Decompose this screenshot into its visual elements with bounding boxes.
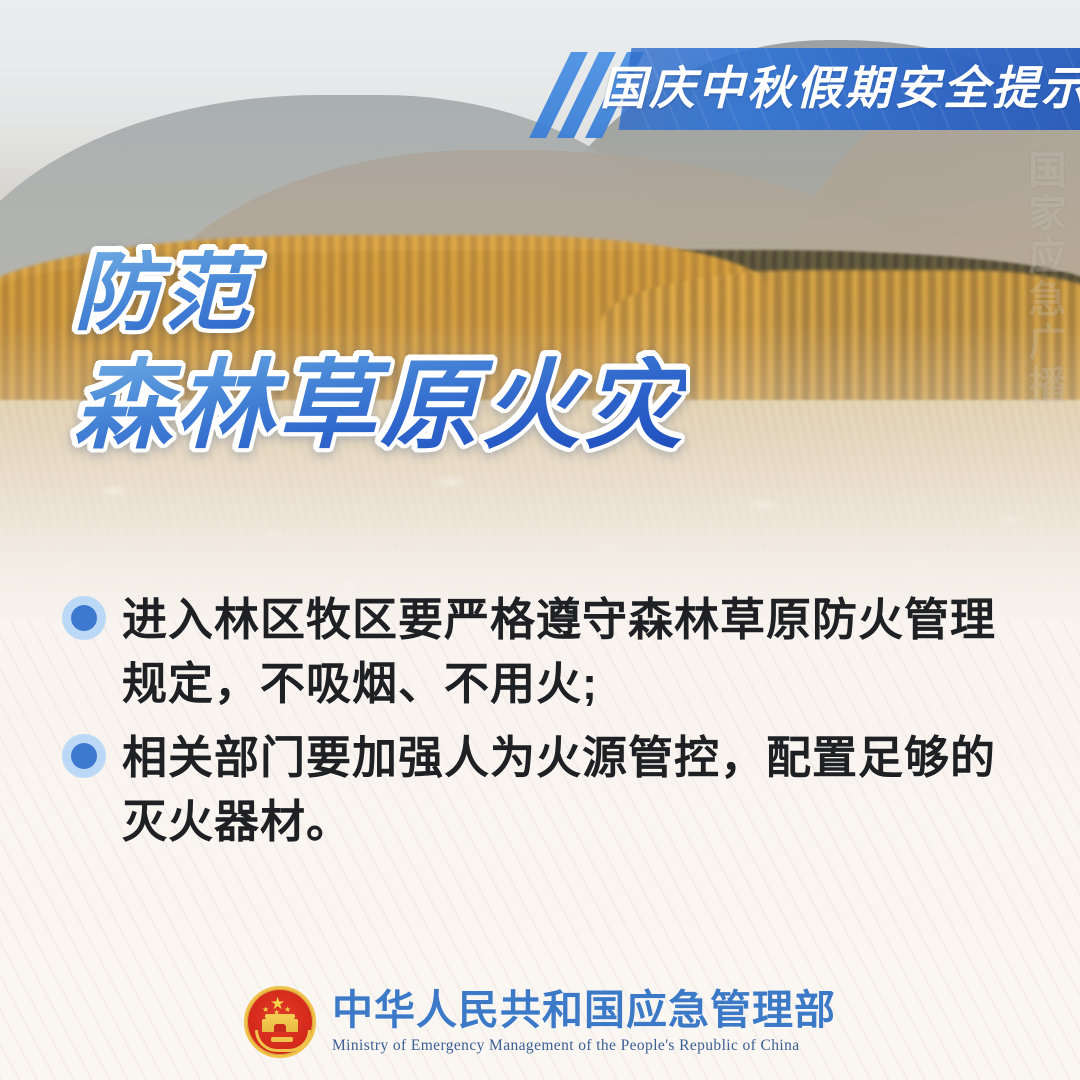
emblem-star-small-3: ★ bbox=[284, 1006, 291, 1014]
banner-title: 国庆中秋假期安全提示 bbox=[600, 52, 1080, 118]
safety-poster: 国家应急广播 国庆中秋假期安全提示 防范 森林草原火灾 进入林区牧区要严格遵守森… bbox=[0, 0, 1080, 1080]
headline: 防范 森林草原火灾 bbox=[74, 250, 686, 454]
headline-line-1: 防范 bbox=[74, 250, 686, 336]
list-item: 相关部门要加强人为火源管控，配置足够的灭火器材。 bbox=[62, 726, 1022, 854]
bullet-text: 进入林区牧区要严格遵守森林草原防火管理规定，不吸烟、不用火; bbox=[122, 588, 1010, 716]
watermark-text: 国家应急广播 bbox=[1024, 150, 1062, 408]
headline-line-2: 森林草原火灾 bbox=[74, 356, 686, 454]
footer-text-block: 中华人民共和国应急管理部 Ministry of Emergency Manag… bbox=[332, 989, 836, 1055]
organization-name-en: Ministry of Emergency Management of the … bbox=[332, 1037, 800, 1055]
organization-name-cn: 中华人民共和国应急管理部 bbox=[332, 989, 836, 1032]
bullet-text: 相关部门要加强人为火源管控，配置足够的灭火器材。 bbox=[122, 726, 1010, 854]
emblem-wheat-gear bbox=[255, 1030, 311, 1052]
bullet-dot-icon bbox=[62, 596, 106, 640]
bullet-list: 进入林区牧区要严格遵守森林草原防火管理规定，不吸烟、不用火; 相关部门要加强人为… bbox=[62, 588, 1022, 864]
list-item: 进入林区牧区要严格遵守森林草原防火管理规定，不吸烟、不用火; bbox=[62, 588, 1022, 716]
emblem-star-small-1: ★ bbox=[262, 1006, 269, 1014]
footer: ★ ★ ★ ★ 中华人民共和国应急管理部 Ministry of Emergen… bbox=[0, 986, 1080, 1058]
bullet-dot-icon bbox=[62, 734, 106, 778]
national-emblem-icon: ★ ★ ★ ★ bbox=[244, 986, 316, 1058]
